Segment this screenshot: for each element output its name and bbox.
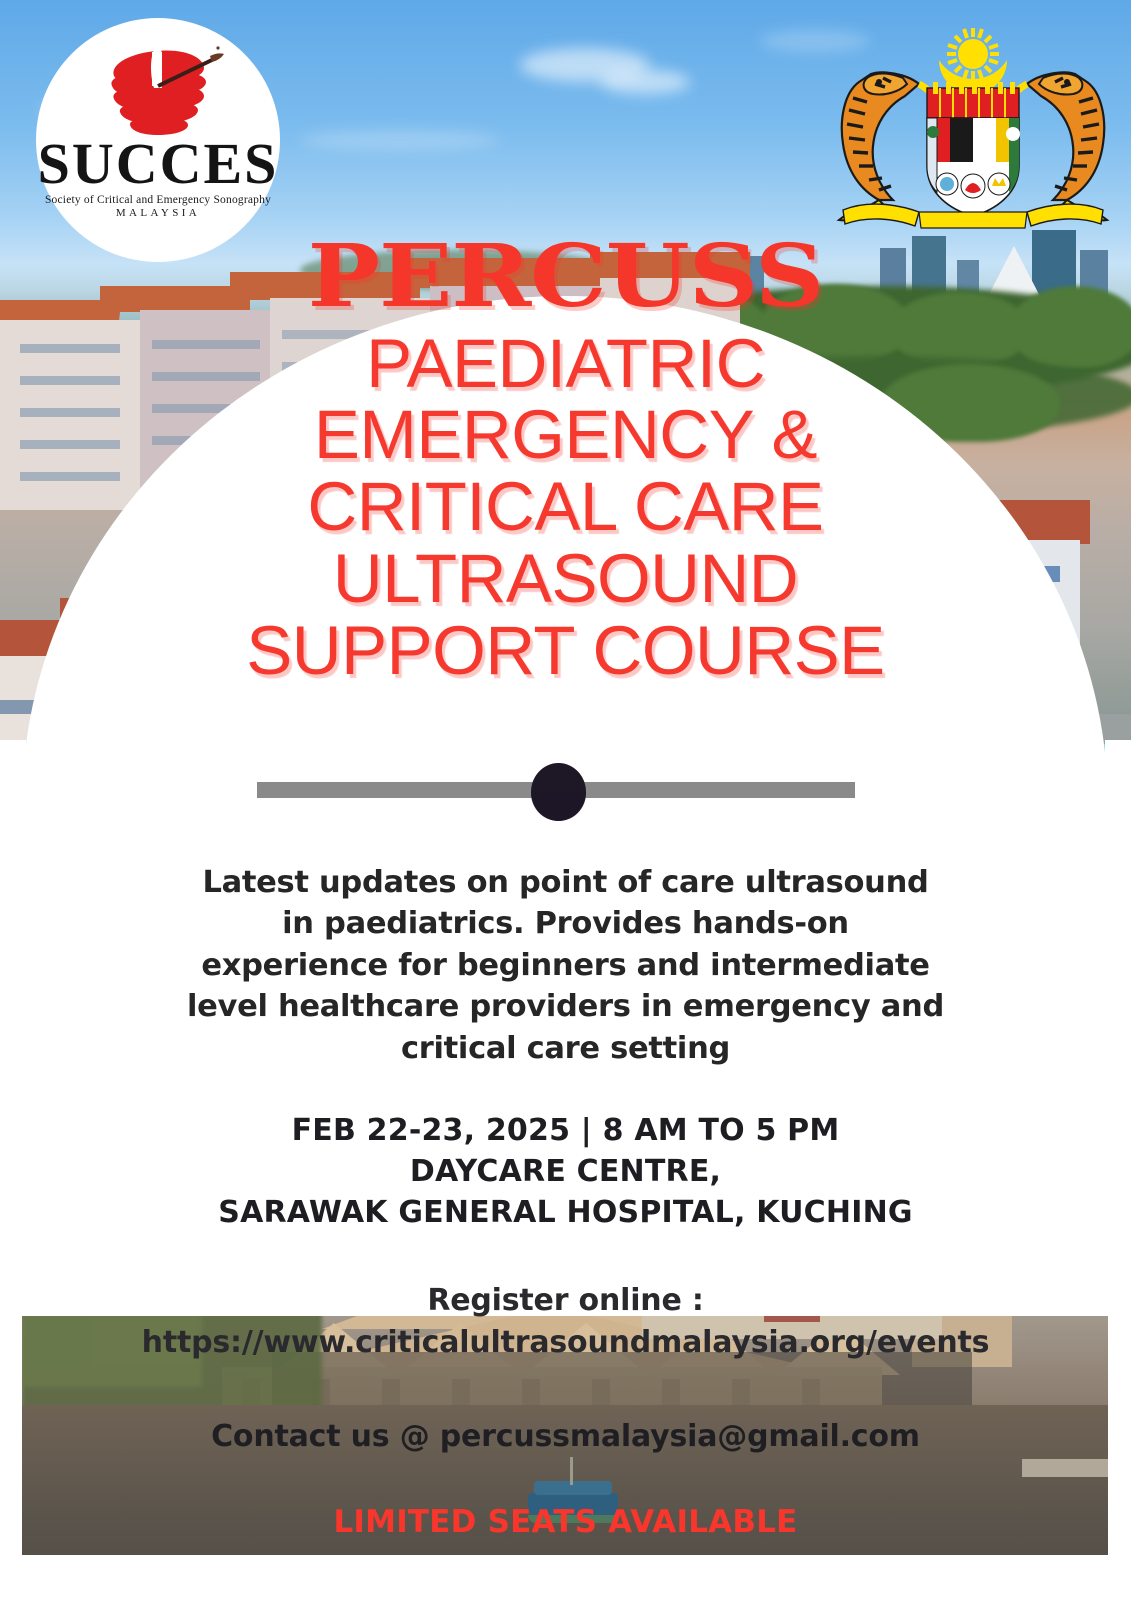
contact-line[interactable]: Contact us @ percussmalaysia@gmail.com <box>0 1419 1131 1454</box>
subtitle-line-1: PAEDIATRIC <box>0 328 1131 400</box>
registration-block: Register online : https://www.criticalul… <box>0 1280 1131 1365</box>
event-poster: SUCCES Society of Critical and Emergency… <box>0 0 1131 1600</box>
event-date-time: FEB 22-23, 2025 | 8 AM TO 5 PM <box>0 1111 1131 1152</box>
succes-wordmark: SUCCES <box>38 136 279 191</box>
body-copy: Latest updates on point of care ultrasou… <box>0 862 1131 1540</box>
limited-seats-notice: LIMITED SEATS AVAILABLE <box>0 1504 1131 1540</box>
white-left-fill <box>0 740 26 815</box>
register-url[interactable]: https://www.criticalultrasoundmalaysia.o… <box>0 1322 1131 1365</box>
page-title-brand: PERCUSS <box>0 236 1131 318</box>
event-venue-line-1: DAYCARE CENTRE, <box>0 1152 1131 1193</box>
page-subtitle: PAEDIATRIC EMERGENCY & CRITICAL CARE ULT… <box>0 328 1131 687</box>
event-details: FEB 22-23, 2025 | 8 AM TO 5 PM DAYCARE C… <box>0 1111 1131 1233</box>
subtitle-line-4: ULTRASOUND <box>0 543 1131 615</box>
event-venue-line-2: SARAWAK GENERAL HOSPITAL, KUCHING <box>0 1193 1131 1234</box>
succes-logo: SUCCES Society of Critical and Emergency… <box>36 18 280 262</box>
ultrasound-probe-icon <box>92 42 224 138</box>
subtitle-line-2: EMERGENCY & <box>0 399 1131 471</box>
malaysia-coat-of-arms-icon <box>823 14 1123 239</box>
succes-country: MALAYSIA <box>116 207 200 219</box>
subtitle-line-5: SUPPORT COURSE <box>0 615 1131 687</box>
succes-subtitle: Society of Critical and Emergency Sonogr… <box>45 194 271 206</box>
course-description: Latest updates on point of care ultrasou… <box>186 862 946 1069</box>
register-label: Register online : <box>0 1280 1131 1323</box>
title-block: PERCUSS PAEDIATRIC EMERGENCY & CRITICAL … <box>0 236 1131 686</box>
white-right-fill <box>1105 740 1131 815</box>
subtitle-line-3: CRITICAL CARE <box>0 471 1131 543</box>
